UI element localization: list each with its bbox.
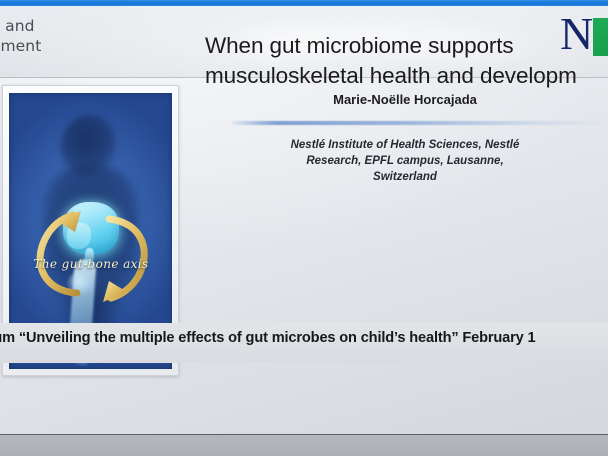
slide-author: Marie-Noëlle Horcajada — [205, 92, 605, 107]
player-control-bar[interactable] — [0, 435, 608, 456]
symposium-banner-text: posium “Unveiling the multiple effects o… — [0, 328, 608, 348]
slide-title-line-2: musculoskeletal health and developm — [205, 61, 608, 91]
slide-title-line-1: When gut microbiome supports — [205, 31, 608, 61]
brand-text-block: search and evelopment — [0, 16, 178, 56]
affiliation-line-2: Research, EPFL campus, Lausanne, — [205, 153, 605, 169]
affiliation-line-3: Switzerland — [205, 169, 605, 185]
title-divider-rule — [232, 121, 607, 125]
video-player-viewport: search and evelopment N — [0, 0, 608, 456]
brand-line-2: evelopment — [0, 36, 178, 56]
slide-affiliation: Nestlé Institute of Health Sciences, Nes… — [205, 137, 605, 185]
brand-line-1: search and — [0, 16, 178, 36]
presentation-slide: search and evelopment N — [0, 6, 608, 434]
figure-caption: The gut-bone axis — [17, 257, 165, 271]
affiliation-line-1: Nestlé Institute of Health Sciences, Nes… — [205, 137, 605, 153]
slide-title: When gut microbiome supports musculoskel… — [205, 31, 608, 91]
